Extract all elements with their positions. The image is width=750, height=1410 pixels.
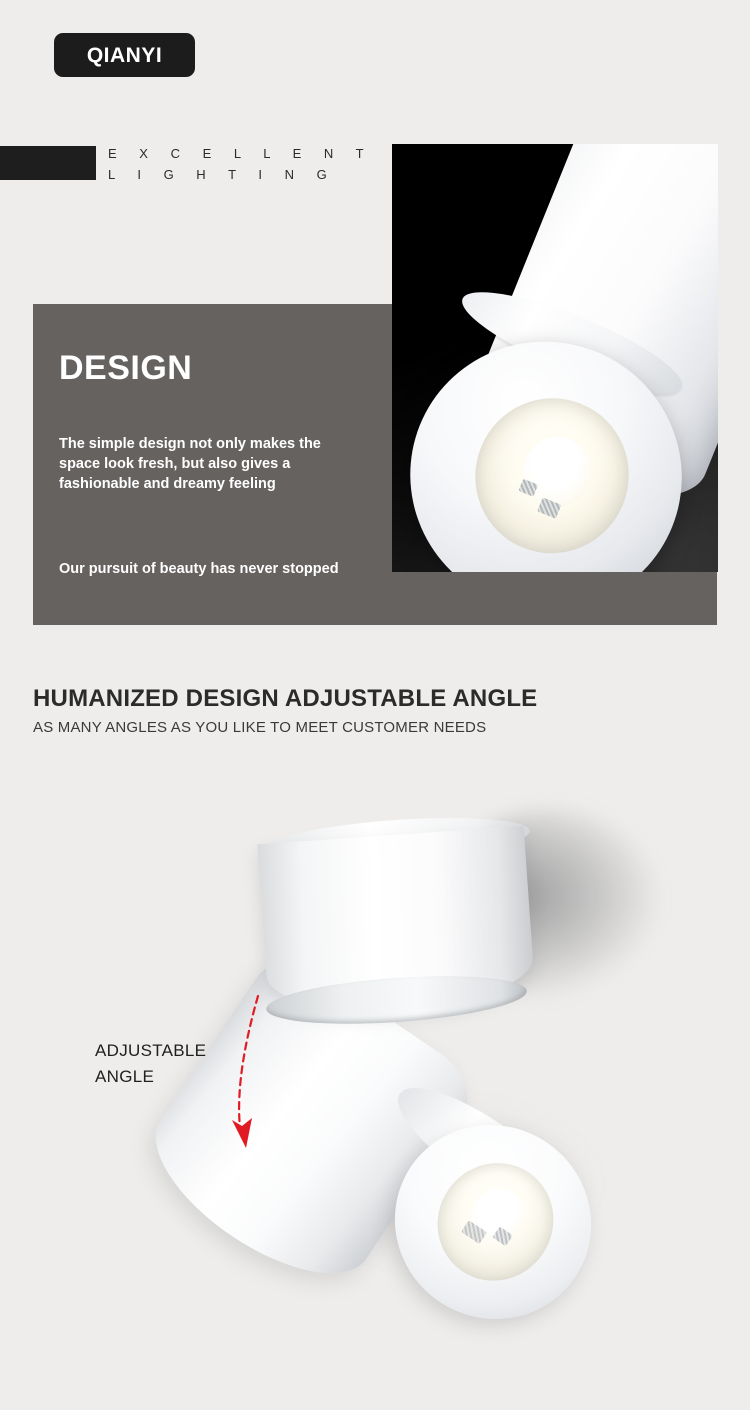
design-slogan: Our pursuit of beauty has never stopped (59, 559, 339, 579)
brand-name: QIANYI (87, 45, 162, 66)
head-lens (460, 1178, 536, 1255)
spotlight-reflector (452, 375, 651, 572)
design-body-text: The simple design not only makes the spa… (59, 434, 359, 494)
annot-line-1: ADJUSTABLE (95, 1041, 206, 1060)
feature-section-title: HUMANIZED DESIGN ADJUSTABLE ANGLE (33, 686, 537, 712)
product-detail-page: QIANYI E X C E L L E N T L I G H T I N G… (0, 0, 750, 1410)
design-title: DESIGN (59, 351, 192, 385)
brand-badge: QIANYI (54, 33, 195, 77)
tagline-accent-bar (0, 146, 96, 180)
head-reflector (415, 1140, 577, 1303)
annot-line-2: ANGLE (95, 1067, 154, 1086)
feature-section-subtitle: AS MANY ANGLES AS YOU LIKE TO MEET CUSTO… (33, 718, 486, 738)
tagline-line-2: L I G H T I N G (108, 164, 336, 185)
adjustable-angle-label: ADJUSTABLE ANGLE (95, 1038, 206, 1090)
product-photo-top (392, 144, 718, 572)
tagline-line-1: E X C E L L E N T (108, 143, 373, 164)
